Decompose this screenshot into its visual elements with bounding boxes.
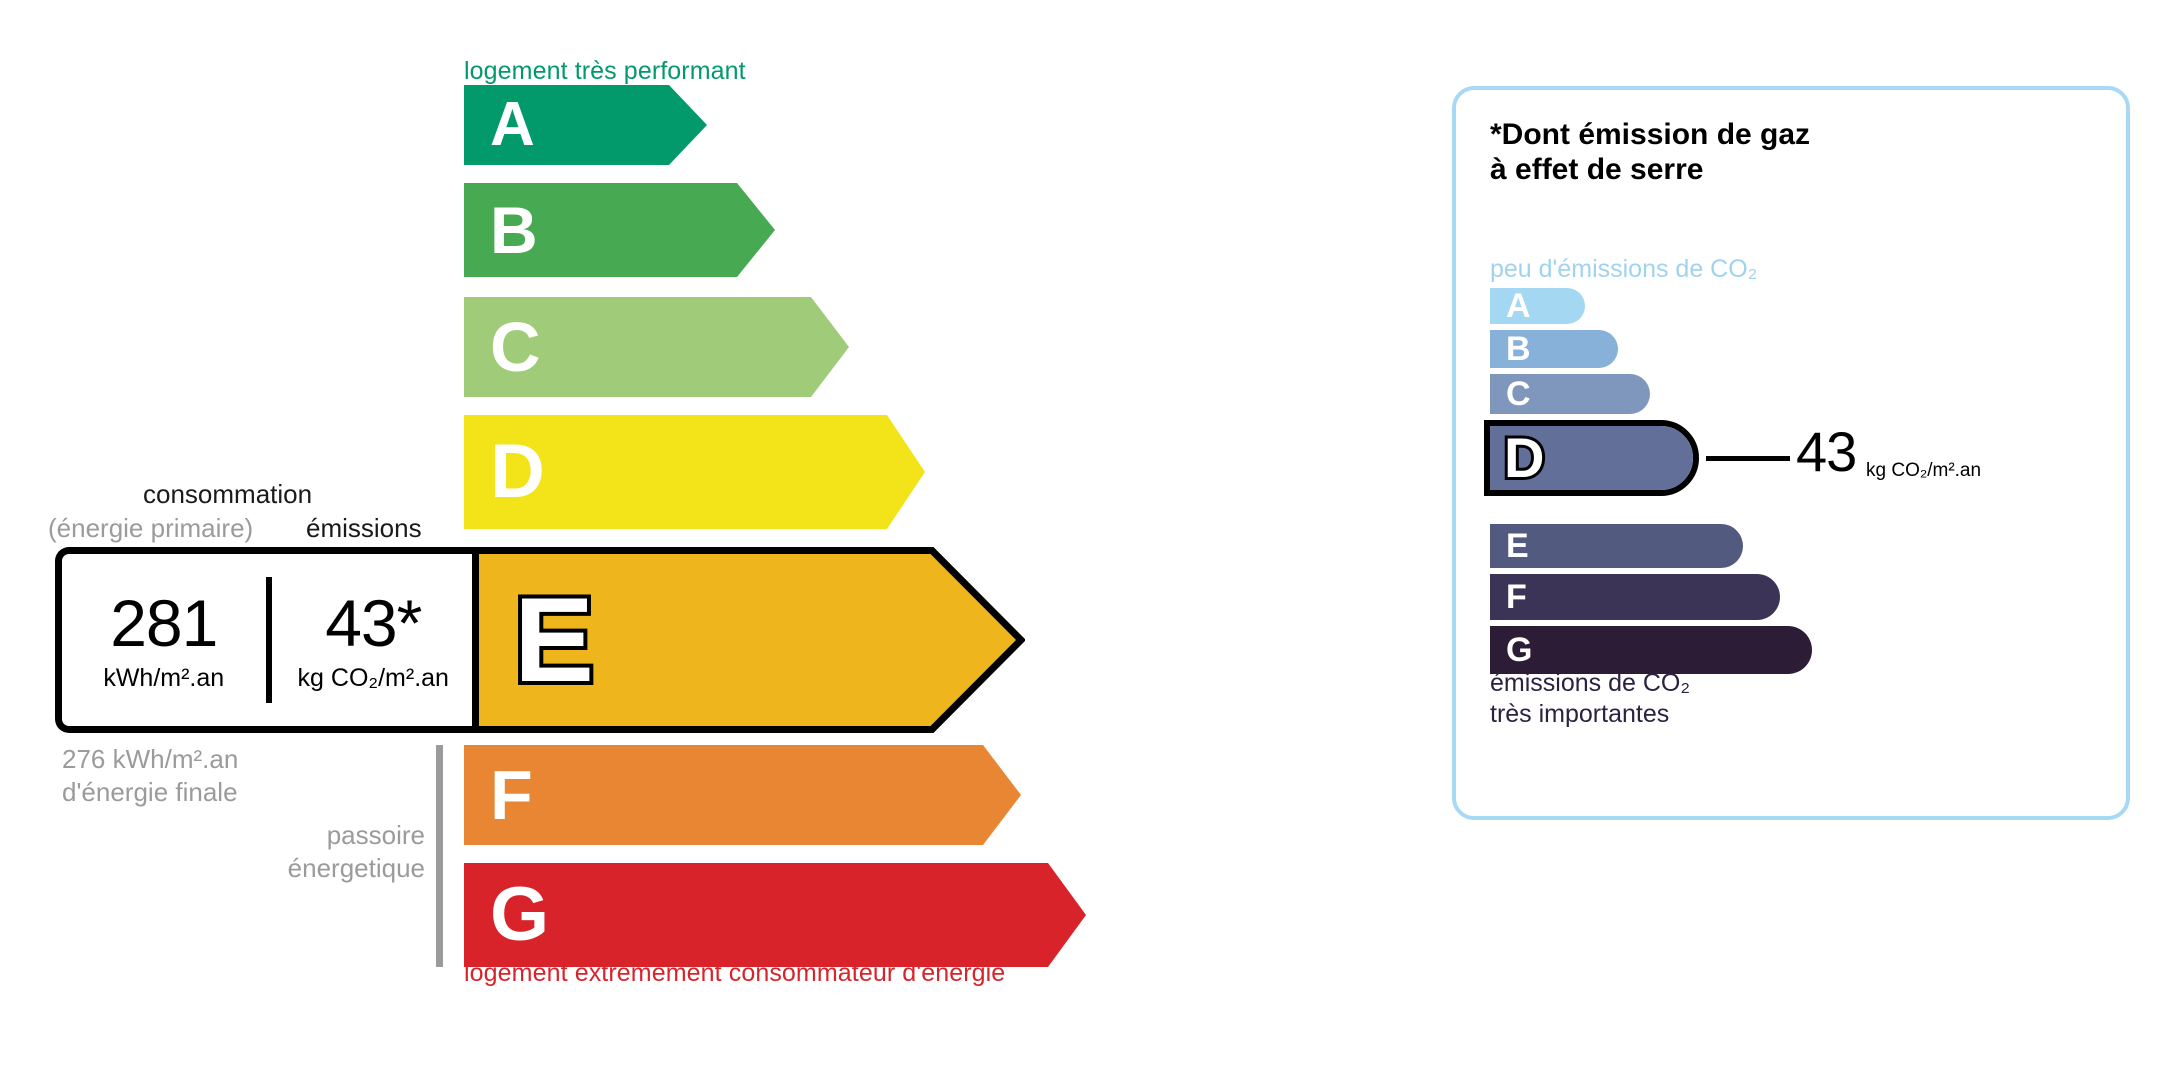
final-energy-line1: 276 kWh/m².an <box>62 744 238 774</box>
arrow-body-g <box>464 863 1048 967</box>
energy-class-arrow-f: F <box>464 745 1021 845</box>
consumption-value: 281 <box>62 590 266 656</box>
energy-class-arrow-c: C <box>464 297 849 397</box>
arrow-shape-g: G <box>464 863 1086 967</box>
energy-scale-top-caption: logement très performant <box>464 57 746 86</box>
arrow-head-c <box>811 297 849 397</box>
energy-class-arrow-g: G <box>464 863 1086 967</box>
arrow-head-f <box>983 745 1021 845</box>
emission-unit: kg CO₂/m².an <box>272 666 476 691</box>
co2-class-bar-f: F <box>1490 574 1780 620</box>
arrow-shape-c: C <box>464 297 849 397</box>
passoire-line2: énergetique <box>288 853 425 883</box>
energy-class-arrow-a: A <box>464 85 707 165</box>
co2-class-bar-c: C <box>1490 374 1650 414</box>
co2-class-letter-a: A <box>1506 289 1531 323</box>
co2-bottom-line1: émissions de CO₂ <box>1490 669 1690 697</box>
current-co2-class-letter: D <box>1504 430 1544 486</box>
co2-class-bar-a: A <box>1490 288 1585 324</box>
co2-panel-title: *Dont émission de gaz à effet de serre <box>1490 118 1810 187</box>
energy-class-arrow-d: D <box>464 415 925 529</box>
co2-emission-panel: *Dont émission de gaz à effet de serre p… <box>1452 86 2130 820</box>
primary-energy-label: (énergie primaire) <box>48 513 253 544</box>
energy-class-arrow-b: B <box>464 183 775 277</box>
energy-class-letter-f: F <box>490 760 533 830</box>
co2-class-letter-f: F <box>1506 580 1527 614</box>
co2-callout-unit: kg CO₂/m².an <box>1866 460 1981 482</box>
current-energy-class-letter: E <box>514 580 594 700</box>
co2-class-letter-b: B <box>1506 332 1531 366</box>
current-energy-class-row: 281 kWh/m².an 43* kg CO₂/m².an E <box>55 547 1025 733</box>
passoire-line1: passoire <box>327 820 425 850</box>
energy-class-letter-b: B <box>490 197 538 263</box>
consumption-label: consommation <box>143 479 312 510</box>
energy-class-letter-g: G <box>490 877 549 953</box>
co2-class-letter-e: E <box>1506 529 1529 563</box>
arrow-shape-a: A <box>464 85 707 165</box>
arrow-head-b <box>737 183 775 277</box>
co2-scale-bottom-caption: émissions de CO₂ très importantes <box>1490 668 1690 731</box>
consumption-value-cell: 281 kWh/m².an <box>62 590 266 691</box>
emissions-label: émissions <box>306 513 422 544</box>
emission-value-cell: 43* kg CO₂/m².an <box>272 590 476 691</box>
co2-class-bar-g: G <box>1490 626 1812 674</box>
co2-bottom-line2: très importantes <box>1490 700 1669 728</box>
energy-class-letter-a: A <box>490 94 535 156</box>
arrow-head-g <box>1048 863 1086 967</box>
co2-class-letter-c: C <box>1506 377 1531 411</box>
co2-title-line2: à effet de serre <box>1490 153 1703 186</box>
co2-scale-top-caption: peu d'émissions de CO₂ <box>1490 255 1757 284</box>
co2-class-letter-g: G <box>1506 633 1532 667</box>
final-energy-label: 276 kWh/m².an d'énergie finale <box>62 743 238 808</box>
energy-performance-diagram: logement très performant A B C <box>0 0 1380 1079</box>
energy-scale-bottom-caption: logement extrêmement consommateur d'éner… <box>464 959 1005 988</box>
co2-title-line1: *Dont émission de gaz <box>1490 118 1810 151</box>
energy-class-letter-c: C <box>490 312 541 382</box>
co2-callout-value: 43 <box>1796 424 1856 480</box>
current-co2-class-bar: D <box>1484 420 1699 496</box>
co2-class-bar-e: E <box>1490 524 1743 568</box>
emission-value: 43* <box>272 590 476 656</box>
arrow-body-f <box>464 745 983 845</box>
final-energy-line2: d'énergie finale <box>62 777 238 807</box>
arrow-shape-f: F <box>464 745 1021 845</box>
arrow-head-d <box>887 415 925 529</box>
energy-value-box: 281 kWh/m².an 43* kg CO₂/m².an <box>55 547 475 733</box>
current-energy-class-arrow: E <box>472 547 1025 733</box>
passoire-bracket-rule <box>436 745 443 967</box>
arrow-head-a <box>669 85 707 165</box>
consumption-unit: kWh/m².an <box>62 666 266 691</box>
passoire-energetique-label: passoire énergetique <box>180 819 425 884</box>
arrow-shape-b: B <box>464 183 775 277</box>
arrow-shape-d: D <box>464 415 925 529</box>
co2-class-bar-b: B <box>1490 330 1618 368</box>
co2-callout-leader-line <box>1706 456 1790 461</box>
energy-class-letter-d: D <box>490 434 545 510</box>
